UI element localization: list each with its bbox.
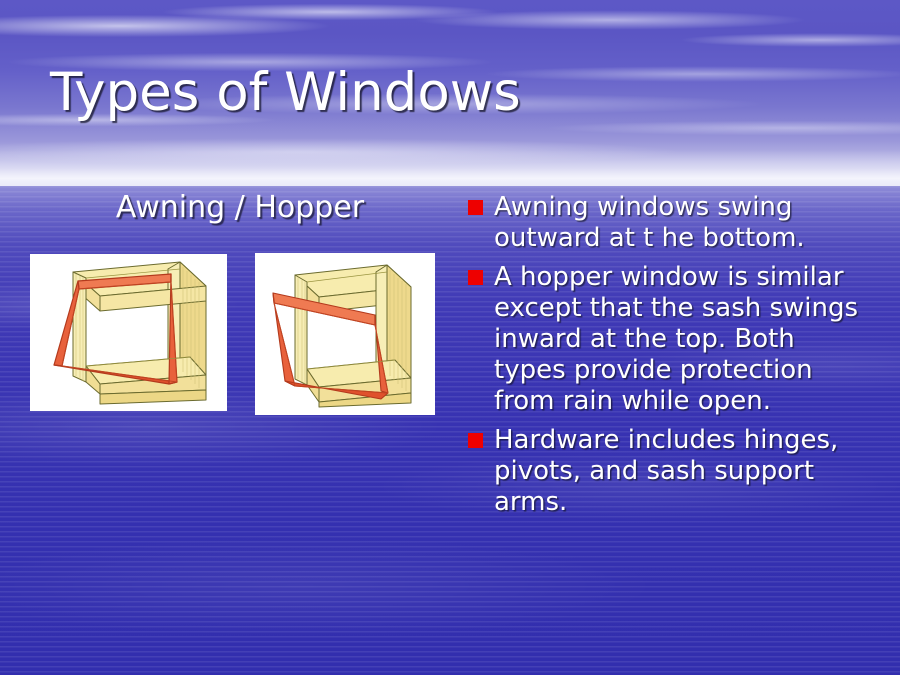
red-square-bullet-icon: [468, 200, 483, 215]
hopper-window-drawing: [255, 253, 435, 415]
bullet-text: A hopper window is similar except that t…: [494, 262, 866, 417]
red-square-bullet-icon: [468, 270, 483, 285]
awning-window-diagram: [30, 254, 227, 411]
bullet-text: Awning windows swing outward at t he bot…: [494, 192, 866, 254]
slide-title: Types of Windows: [50, 62, 521, 123]
list-item: A hopper window is similar except that t…: [466, 262, 866, 417]
list-item: Hardware includes hinges, pivots, and sa…: [466, 425, 866, 518]
bullet-list: Awning windows swing outward at t he bot…: [466, 192, 866, 526]
picture-group-caption: Awning / Hopper: [30, 190, 450, 225]
red-square-bullet-icon: [468, 433, 483, 448]
bullet-text: Hardware includes hinges, pivots, and sa…: [494, 425, 866, 518]
list-item: Awning windows swing outward at t he bot…: [466, 192, 866, 254]
hopper-window-diagram: [255, 253, 435, 415]
presentation-slide: Types of Windows Awning / Hopper: [0, 0, 900, 675]
awning-window-drawing: [30, 254, 227, 411]
